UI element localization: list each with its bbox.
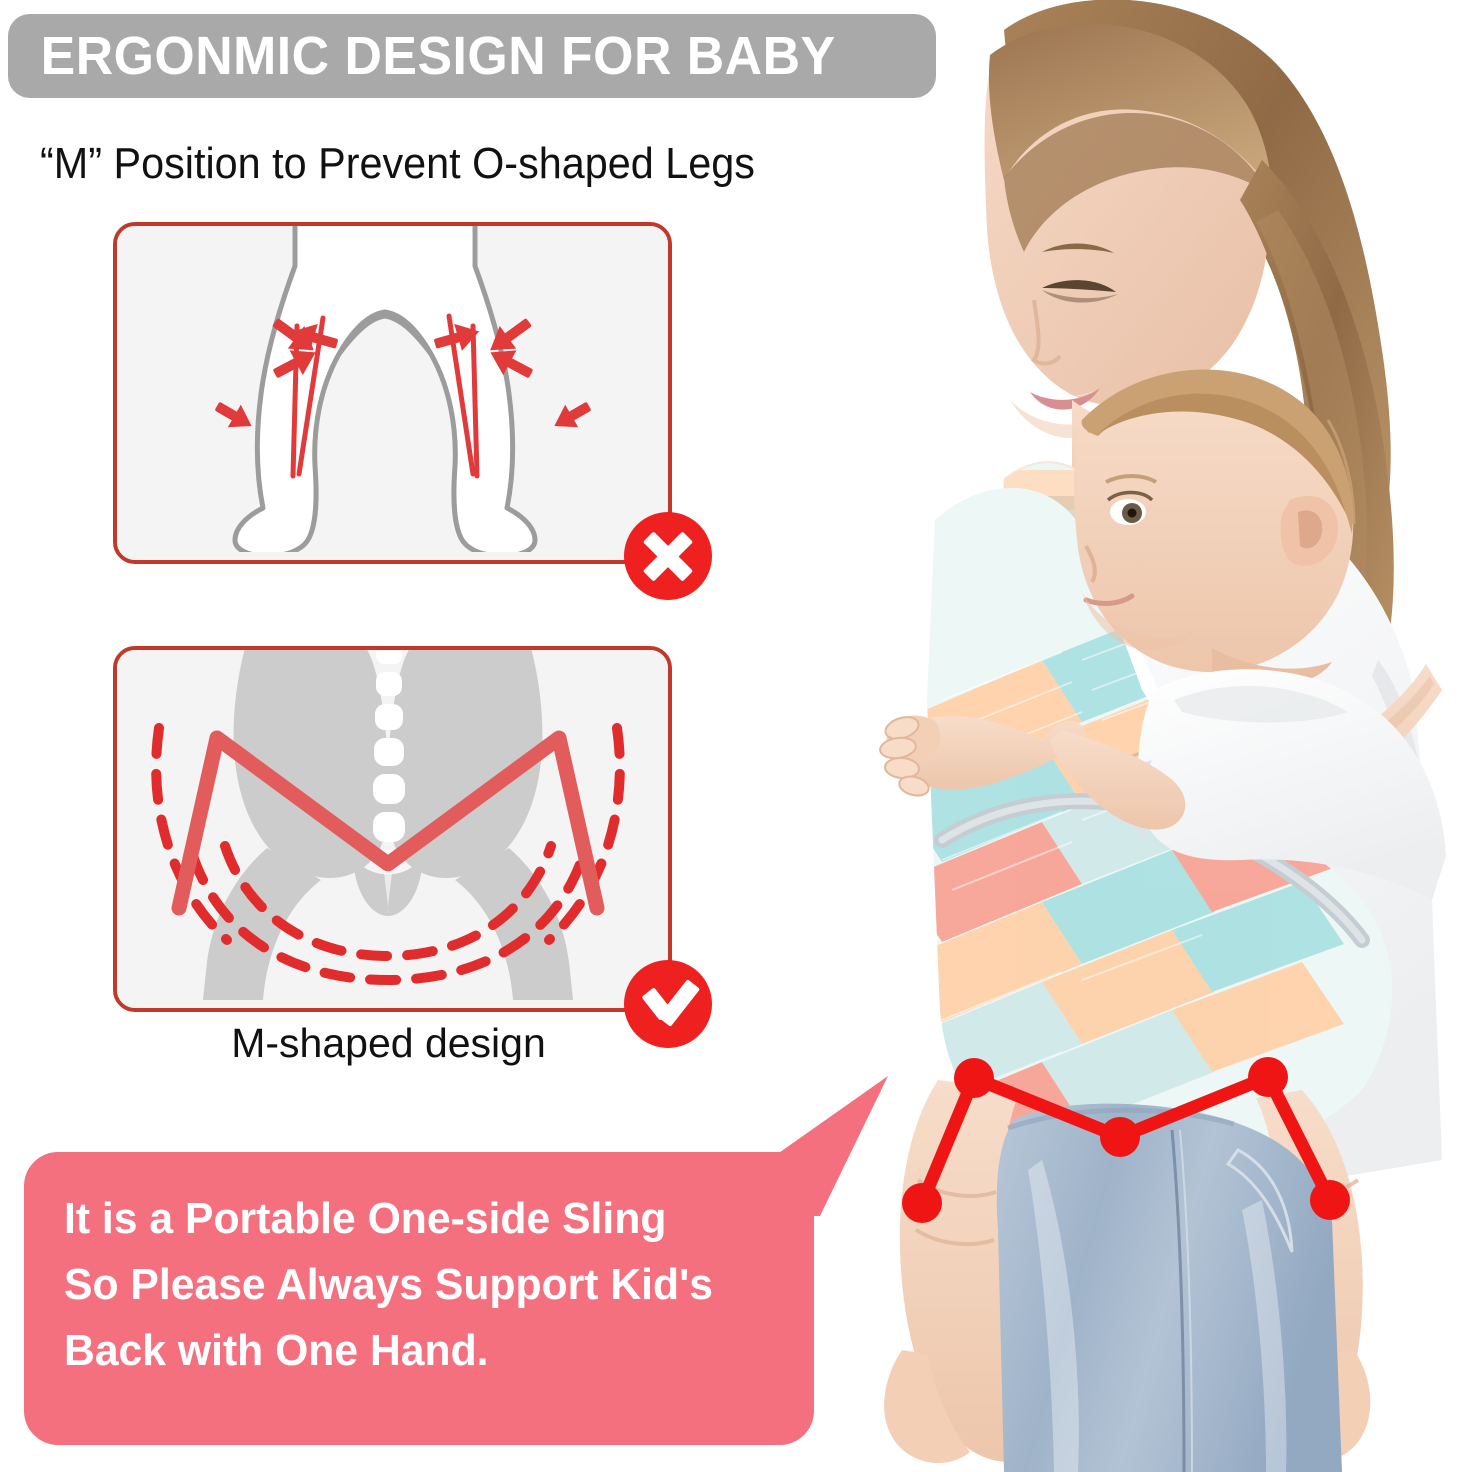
callout-line-1: It is a Portable One-side Sling (64, 1186, 764, 1252)
x-mark-badge (624, 512, 712, 600)
check-mark-badge (624, 960, 712, 1048)
support-warning-callout: It is a Portable One-side Sling So Pleas… (24, 1152, 814, 1445)
close-icon (641, 529, 695, 583)
callout-line-2: So Please Always Support Kid's (64, 1252, 764, 1318)
callout-line-3: Back with One Hand. (64, 1318, 764, 1384)
check-icon (639, 979, 697, 1029)
m-shaped-design-diagram (113, 646, 672, 1012)
infographic-root: ERGONMIC DESIGN FOR BABY “M” Position to… (0, 0, 1480, 1472)
page-title: ERGONMIC DESIGN FOR BABY (8, 25, 836, 87)
callout-text: It is a Portable One-side Sling So Pleas… (64, 1186, 764, 1384)
o-shaped-legs-diagram (113, 222, 672, 564)
diagram-bad-inner (117, 226, 668, 560)
subheading: “M” Position to Prevent O-shaped Legs (40, 139, 867, 195)
header-banner: ERGONMIC DESIGN FOR BABY (8, 14, 936, 98)
diagram-good-inner (117, 650, 668, 1008)
diagram-caption: M-shaped design (113, 1020, 664, 1067)
product-photo (742, 0, 1480, 1472)
